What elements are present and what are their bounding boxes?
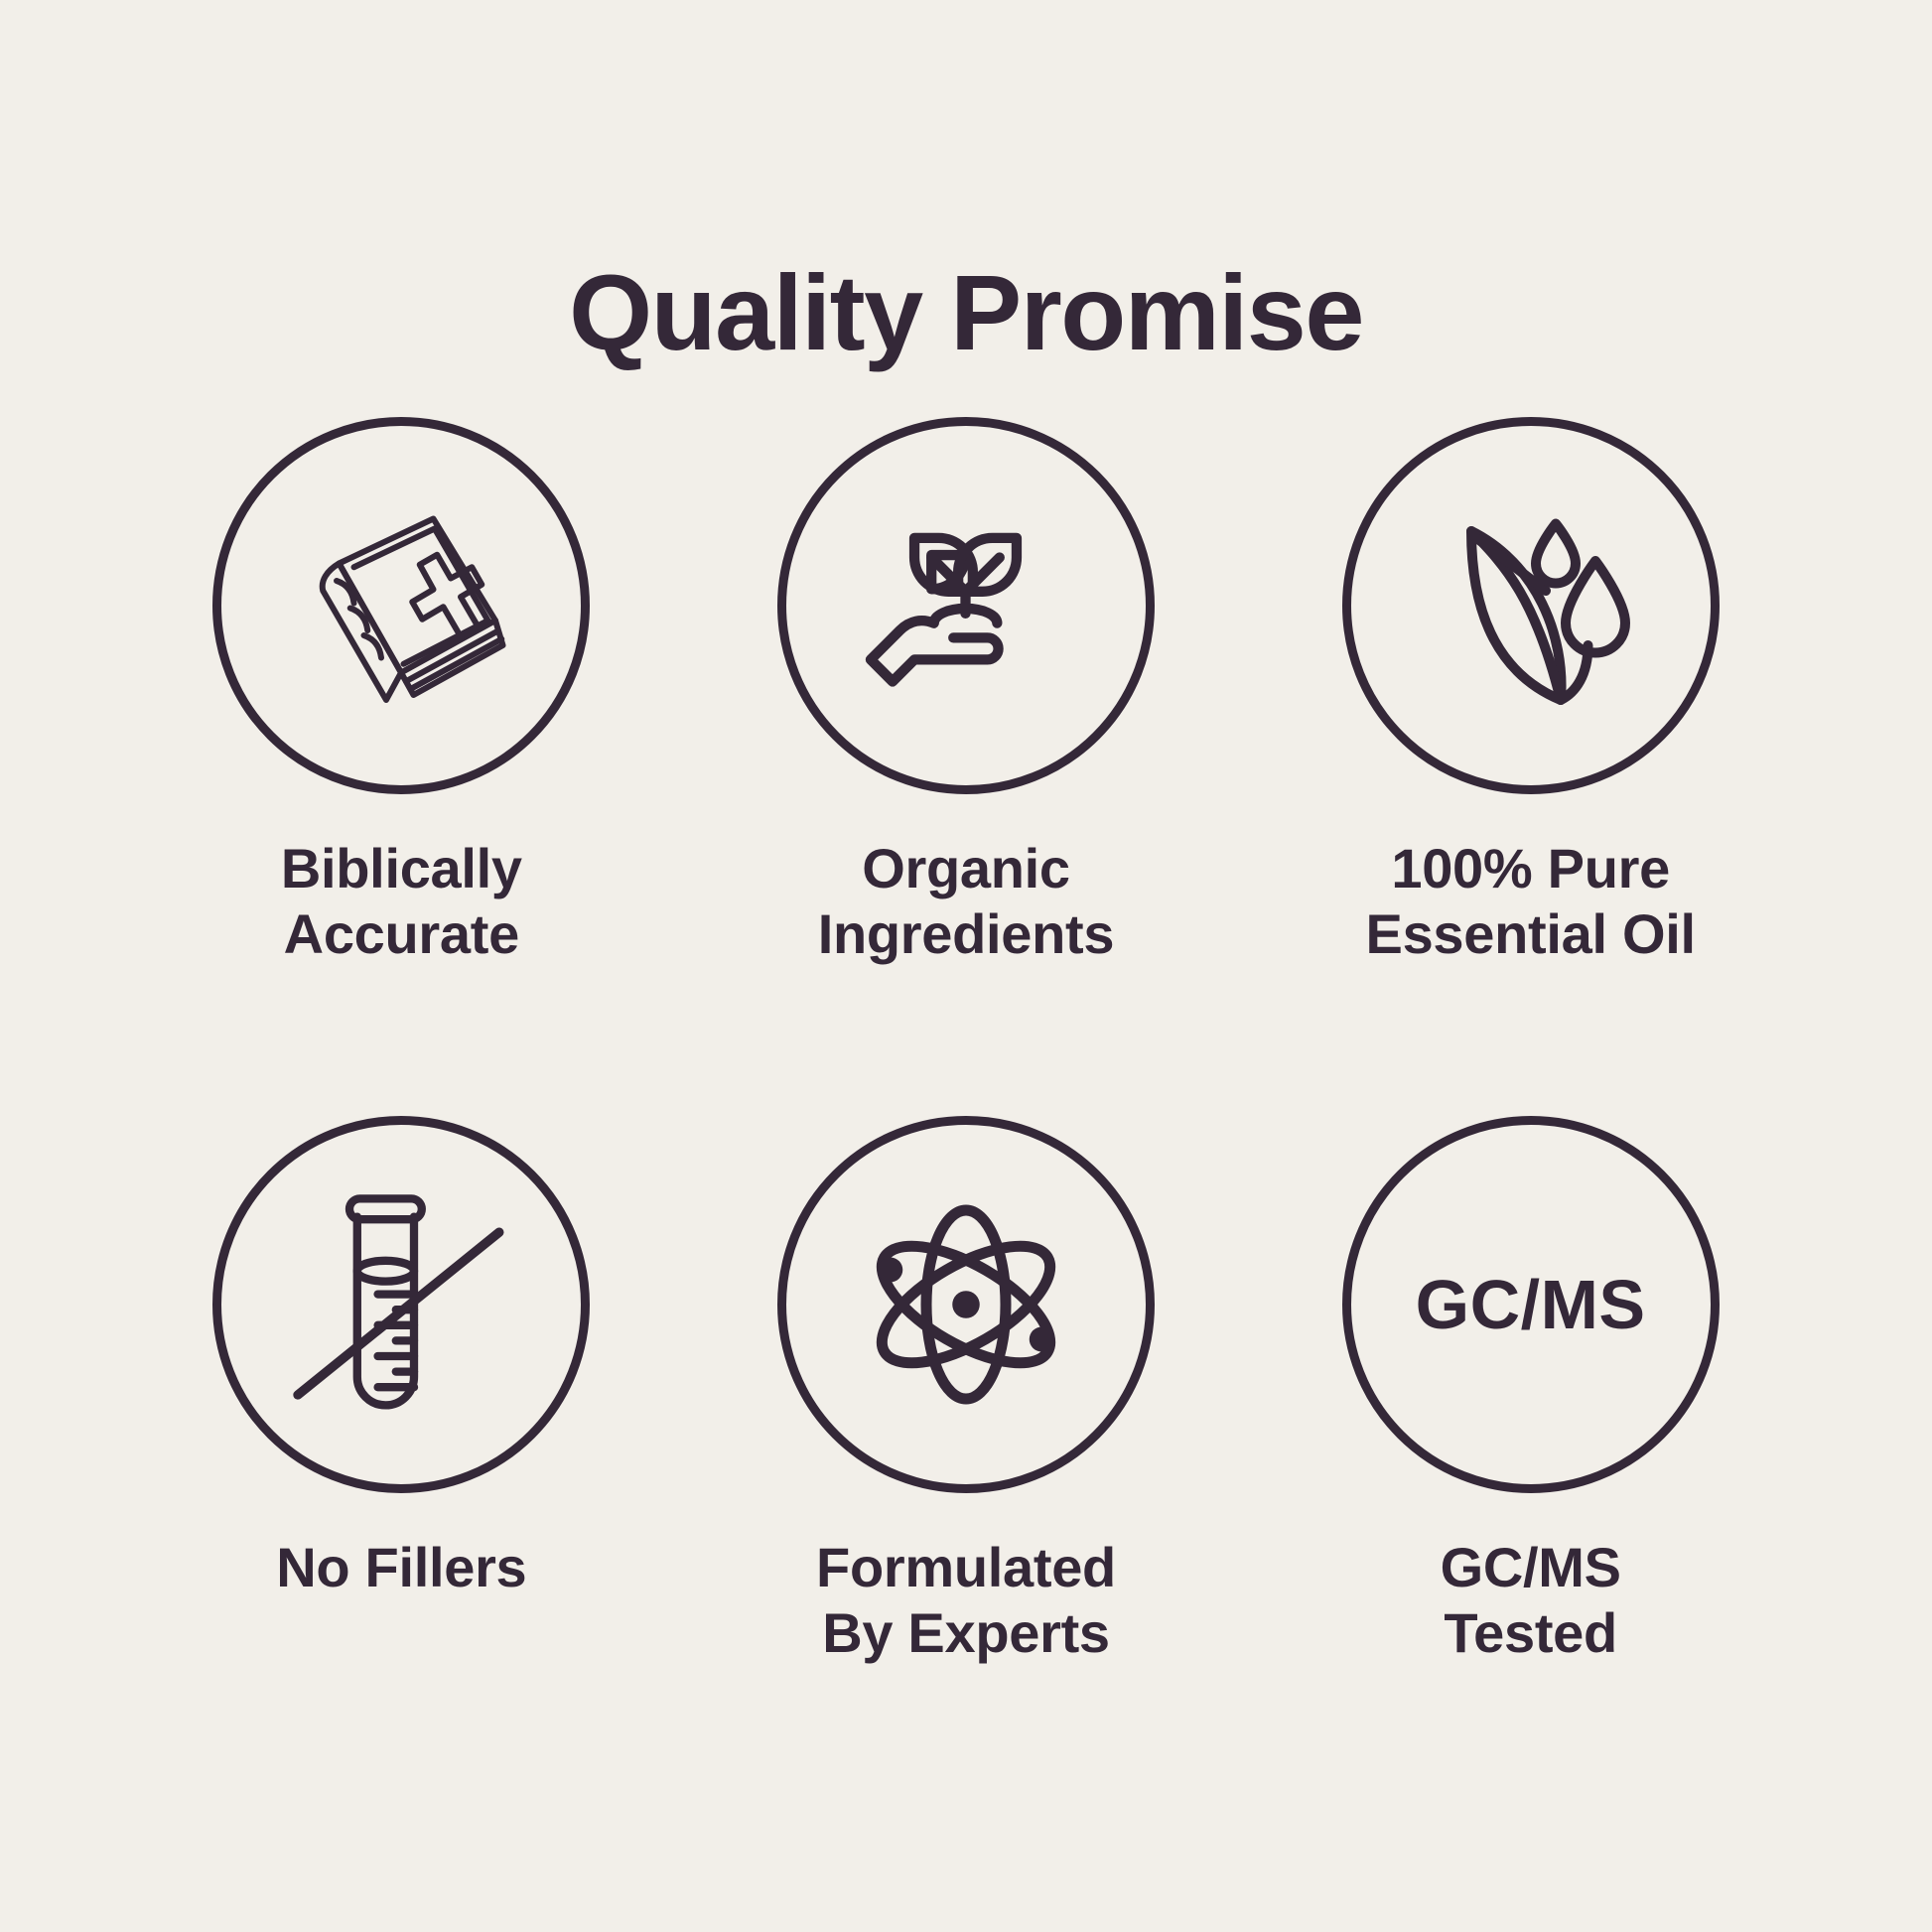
badge-circle xyxy=(777,417,1155,794)
badge-circle xyxy=(1342,417,1720,794)
bible-book-icon xyxy=(277,482,525,730)
badge-label-line-2: Essential Oil xyxy=(1366,901,1696,967)
badge-label: No Fillers xyxy=(276,1535,526,1600)
badge-label-line-1: Organic xyxy=(818,836,1115,901)
leaf-droplet-icon xyxy=(1407,482,1655,730)
badge-circle: GC/MS xyxy=(1342,1116,1720,1493)
gcms-text-icon: GC/MS xyxy=(1416,1265,1646,1344)
badge-label: 100% Pure Essential Oil xyxy=(1366,836,1696,967)
badge-label: Organic Ingredients xyxy=(818,836,1115,967)
badge-circle xyxy=(212,417,590,794)
badge-label-line-1: 100% Pure xyxy=(1366,836,1696,901)
badge-label-line-2: Accurate xyxy=(281,901,522,967)
badge-grid: Biblically Accurate xyxy=(119,417,1813,1666)
badge-circle xyxy=(212,1116,590,1493)
badge-label-line-2: Tested xyxy=(1441,1600,1621,1666)
plant-in-hand-icon xyxy=(844,484,1087,728)
badge-label: Formulated By Experts xyxy=(816,1535,1116,1666)
badge-label-line-1: No Fillers xyxy=(276,1535,526,1600)
no-test-tube-icon xyxy=(272,1175,530,1434)
badge-label: GC/MS Tested xyxy=(1441,1535,1621,1666)
badge-item-pure-essential-oil: 100% Pure Essential Oil xyxy=(1248,417,1813,967)
badge-label-line-2: By Experts xyxy=(816,1600,1116,1666)
badge-item-organic-ingredients: Organic Ingredients xyxy=(684,417,1249,967)
atom-icon xyxy=(842,1180,1090,1429)
quality-promise-panel: Quality Promise xyxy=(0,0,1932,1932)
badge-label-line-1: Biblically xyxy=(281,836,522,901)
badge-label-line-2: Ingredients xyxy=(818,901,1115,967)
badge-item-gcms-tested: GC/MS GC/MS Tested xyxy=(1248,1116,1813,1666)
page-title: Quality Promise xyxy=(0,256,1932,368)
badge-label: Biblically Accurate xyxy=(281,836,522,967)
badge-label-line-1: Formulated xyxy=(816,1535,1116,1600)
badge-item-no-fillers: No Fillers xyxy=(119,1116,684,1666)
badge-item-formulated-by-experts: Formulated By Experts xyxy=(684,1116,1249,1666)
badge-label-line-1: GC/MS xyxy=(1441,1535,1621,1600)
badge-item-biblically-accurate: Biblically Accurate xyxy=(119,417,684,967)
badge-circle xyxy=(777,1116,1155,1493)
